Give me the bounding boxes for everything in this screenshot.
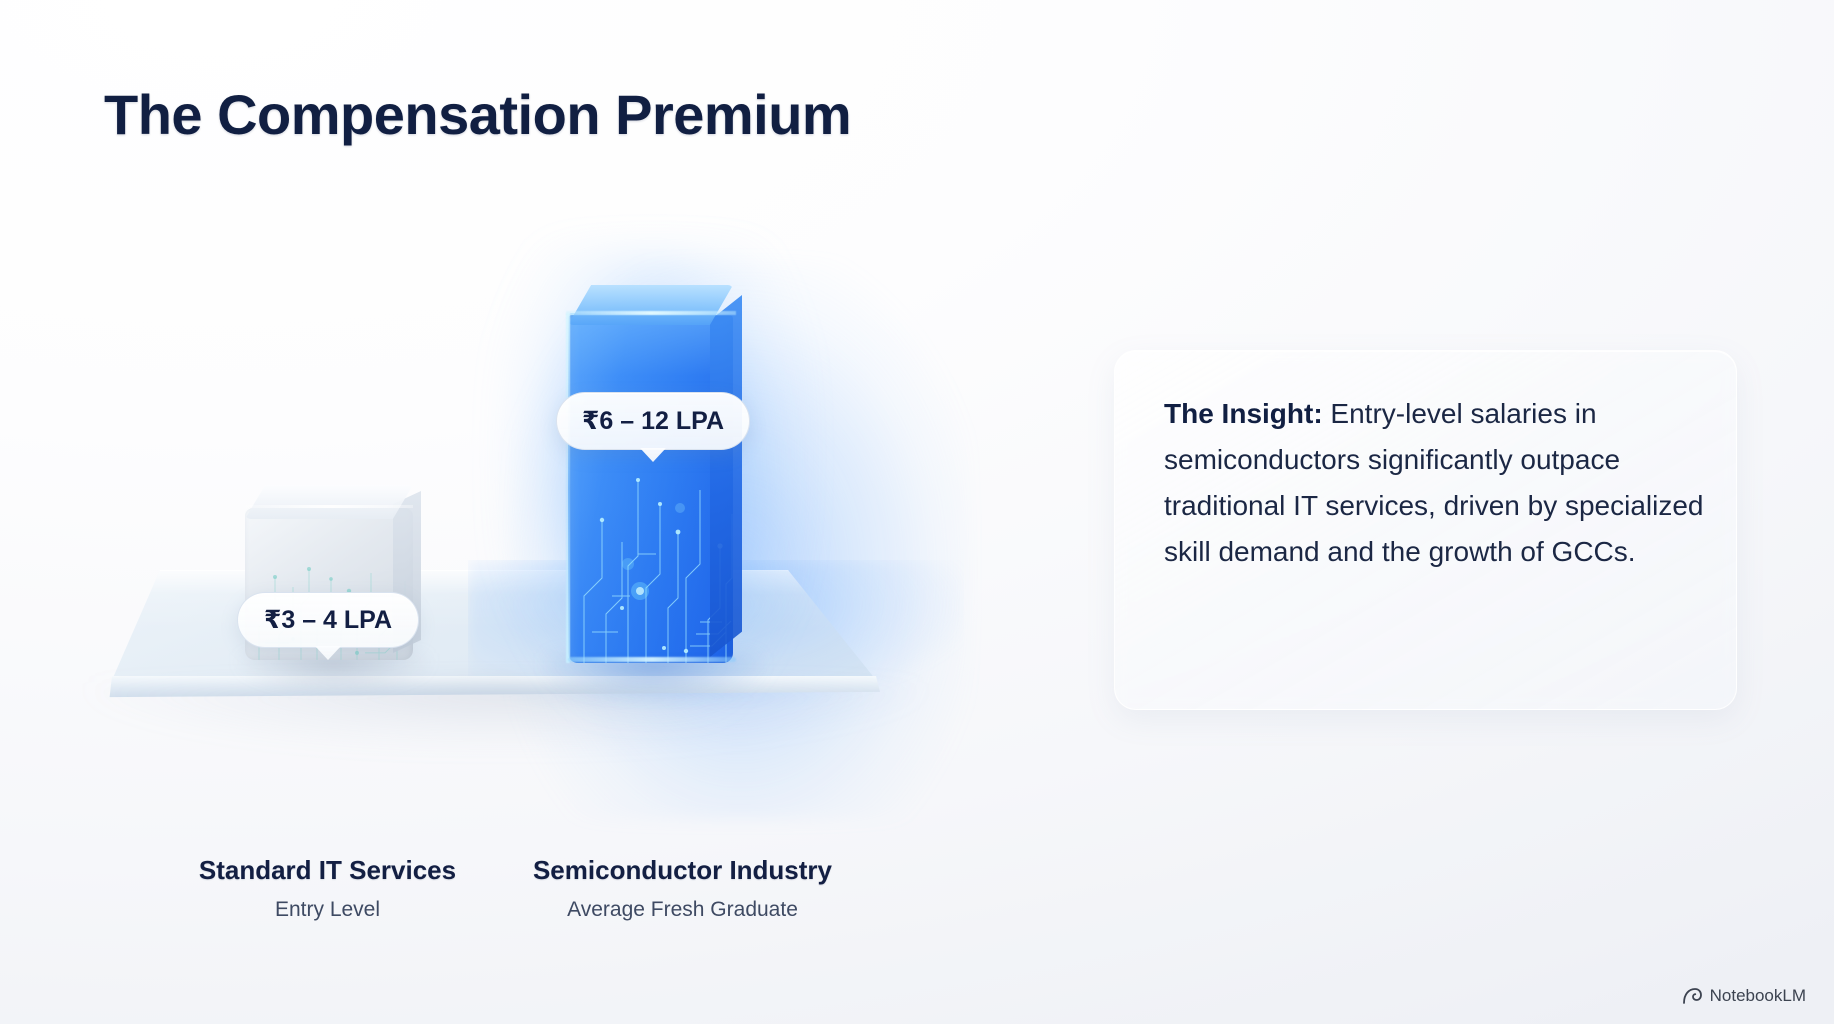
notebooklm-spiral-icon <box>1682 987 1702 1005</box>
axis-label-standard-it: Standard IT Services Entry Level <box>155 855 500 922</box>
value-callout-semiconductor: ₹6 – 12 LPA <box>556 392 750 450</box>
bar-semiconductor-front-face <box>568 313 733 663</box>
bar-semiconductor <box>560 285 745 665</box>
axis-label-standard-it-title: Standard IT Services <box>155 855 500 886</box>
insight-lead: The Insight: <box>1164 398 1323 429</box>
axis-label-semiconductor: Semiconductor Industry Average Fresh Gra… <box>480 855 885 922</box>
bar-semiconductor-left-rim <box>566 313 570 663</box>
notebooklm-label: NotebookLM <box>1710 986 1806 1006</box>
value-callout-standard-it: ₹3 – 4 LPA <box>237 592 419 648</box>
value-callout-semiconductor-label: ₹6 – 12 LPA <box>582 406 724 436</box>
bar-semiconductor-bottom-rim <box>568 657 736 662</box>
bar-standard-it-top-face <box>245 485 413 519</box>
notebooklm-watermark: NotebookLM <box>1682 986 1806 1006</box>
axis-label-semiconductor-title: Semiconductor Industry <box>480 855 885 886</box>
circuit-traces-blue <box>568 446 733 663</box>
insight-text: The Insight: Entry-level salaries in sem… <box>1164 391 1709 575</box>
bar-semiconductor-top-face <box>568 285 733 325</box>
bar-standard-it-top-rim <box>245 505 413 508</box>
axis-label-standard-it-sub: Entry Level <box>155 898 500 922</box>
bar-semiconductor-right-face <box>710 295 742 657</box>
chart-scene: ₹3 – 4 LPA ₹6 – 12 LPA <box>0 180 1060 880</box>
bar-semiconductor-top-rim <box>566 311 736 315</box>
slide-canvas: The Compensation Premium <box>0 0 1834 1024</box>
page-title: The Compensation Premium <box>104 82 851 147</box>
axis-label-semiconductor-sub: Average Fresh Graduate <box>480 898 885 922</box>
value-callout-standard-it-label: ₹3 – 4 LPA <box>264 605 392 635</box>
insight-card: The Insight: Entry-level salaries in sem… <box>1114 350 1737 710</box>
